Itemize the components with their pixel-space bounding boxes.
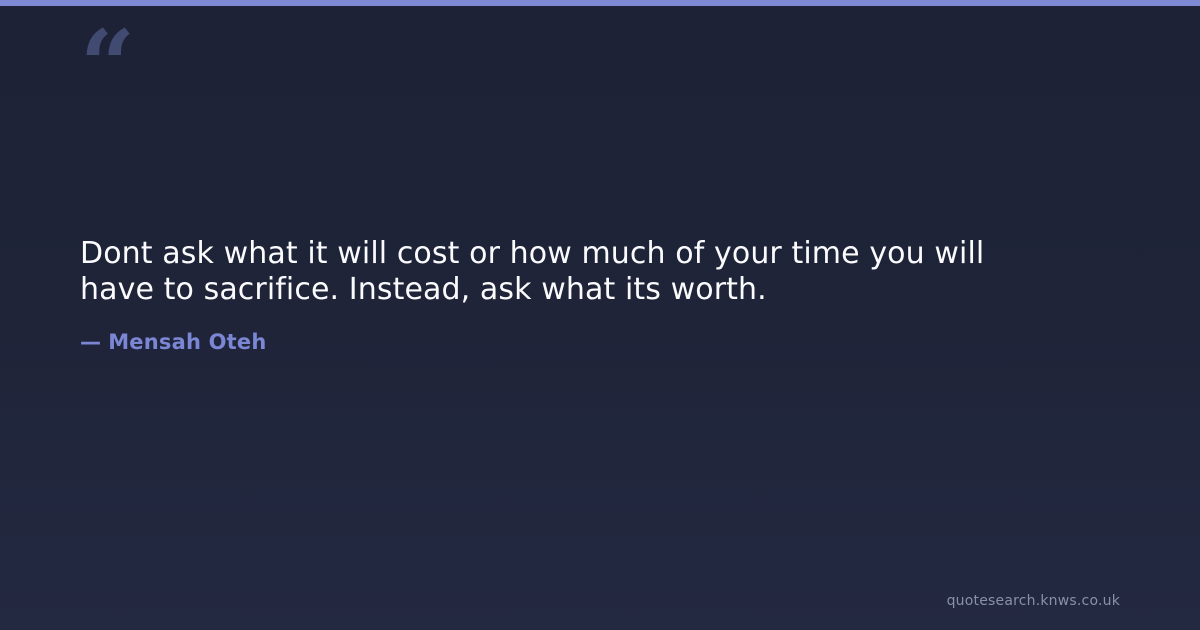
- author-name: Mensah Oteh: [108, 330, 266, 354]
- top-accent-bar: [0, 0, 1200, 6]
- source-website: quotesearch.knws.co.uk: [947, 594, 1120, 608]
- quote-card: “ Dont ask what it will cost or how much…: [0, 0, 1200, 630]
- quote-text: Dont ask what it will cost or how much o…: [80, 236, 1065, 308]
- attribution-dash: —: [80, 332, 101, 353]
- quote-content: Dont ask what it will cost or how much o…: [80, 236, 1120, 353]
- opening-quote-icon: “: [80, 18, 133, 114]
- quote-attribution: —Mensah Oteh: [80, 332, 1120, 353]
